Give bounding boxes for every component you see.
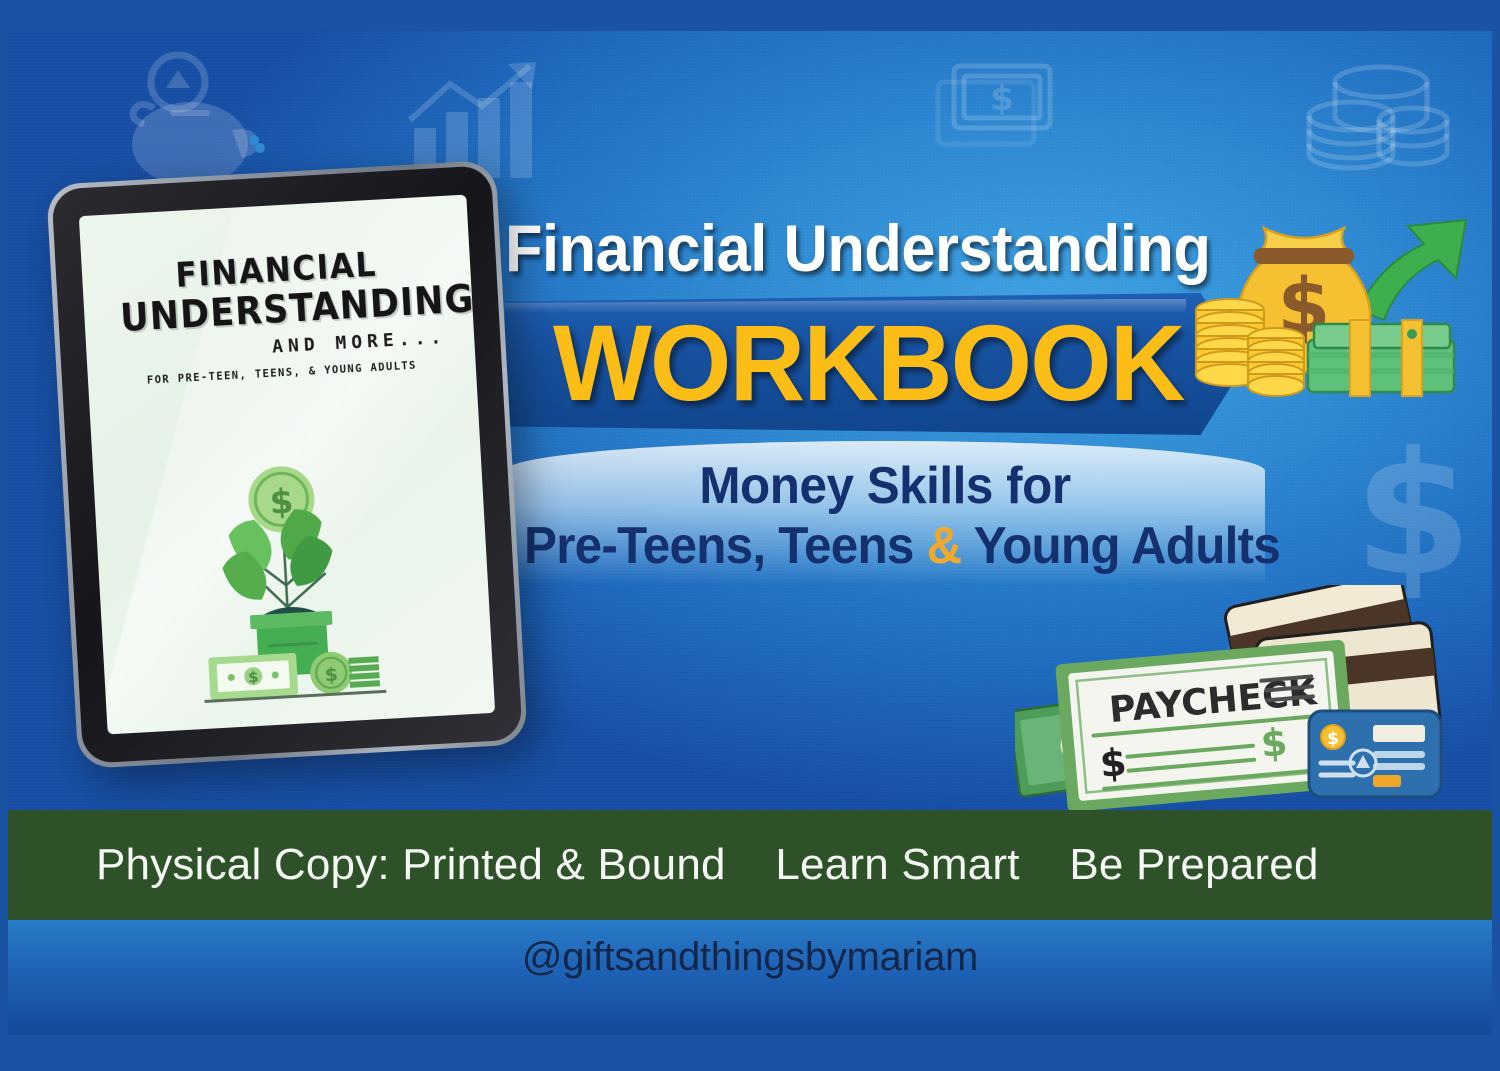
bank-card-icon: $ [1309, 711, 1441, 797]
social-handle: @giftsandthingsbymariam [0, 935, 1500, 980]
subtitle-line2-after: Young Adults [962, 517, 1281, 575]
tablet-bezel: FINANCIAL UNDERSTANDING AND MORE... FOR … [51, 165, 522, 764]
feature-banner: Physical Copy: Printed & Bound Learn Sma… [0, 810, 1500, 920]
feature-banner-text: Physical Copy: Printed & Bound Learn Sma… [0, 840, 1319, 890]
subtitle-line2-before: Pre-Teens, Teens [524, 517, 927, 575]
svg-text:$: $ [1259, 720, 1289, 766]
workbook-ribbon: WORKBOOK [505, 293, 1245, 435]
frame-bottom-edge [0, 1035, 1500, 1071]
tablet-device: FINANCIAL UNDERSTANDING AND MORE... FOR … [46, 160, 528, 769]
tablet-frame: FINANCIAL UNDERSTANDING AND MORE... FOR … [46, 160, 528, 769]
book-cover-text: FINANCIAL UNDERSTANDING AND MORE... FOR … [79, 195, 476, 391]
headline-block: Financial Understanding WORKBOOK Money S… [505, 215, 1295, 585]
subtitle-panel: Money Skills for Pre-Teens, Teens & Youn… [505, 441, 1265, 585]
promo-poster: $ $ FINANCIAL [0, 0, 1500, 1071]
paycheck-illustration: PAYCHECK $ $ $ [1015, 585, 1465, 820]
workbook-title: WORKBOOK [553, 301, 1183, 425]
subtitle-line1: Money Skills for [524, 459, 1246, 514]
svg-text:$: $ [1327, 729, 1339, 749]
frame-right-edge [1492, 0, 1500, 1071]
money-bag-illustration: $ [1190, 192, 1490, 417]
page-title: Financial Understanding [505, 215, 1240, 281]
svg-text:$: $ [324, 664, 338, 687]
svg-text:$: $ [1098, 740, 1128, 786]
subtitle-line2: Pre-Teens, Teens & Young Adults [524, 518, 1246, 575]
frame-left-edge [0, 0, 8, 1071]
frame-top-edge [0, 0, 1500, 31]
money-plant-illustration: $ [179, 451, 408, 718]
svg-text:$: $ [248, 668, 259, 687]
tablet-screen: FINANCIAL UNDERSTANDING AND MORE... FOR … [79, 195, 495, 735]
subtitle-ampersand: & [927, 517, 962, 575]
